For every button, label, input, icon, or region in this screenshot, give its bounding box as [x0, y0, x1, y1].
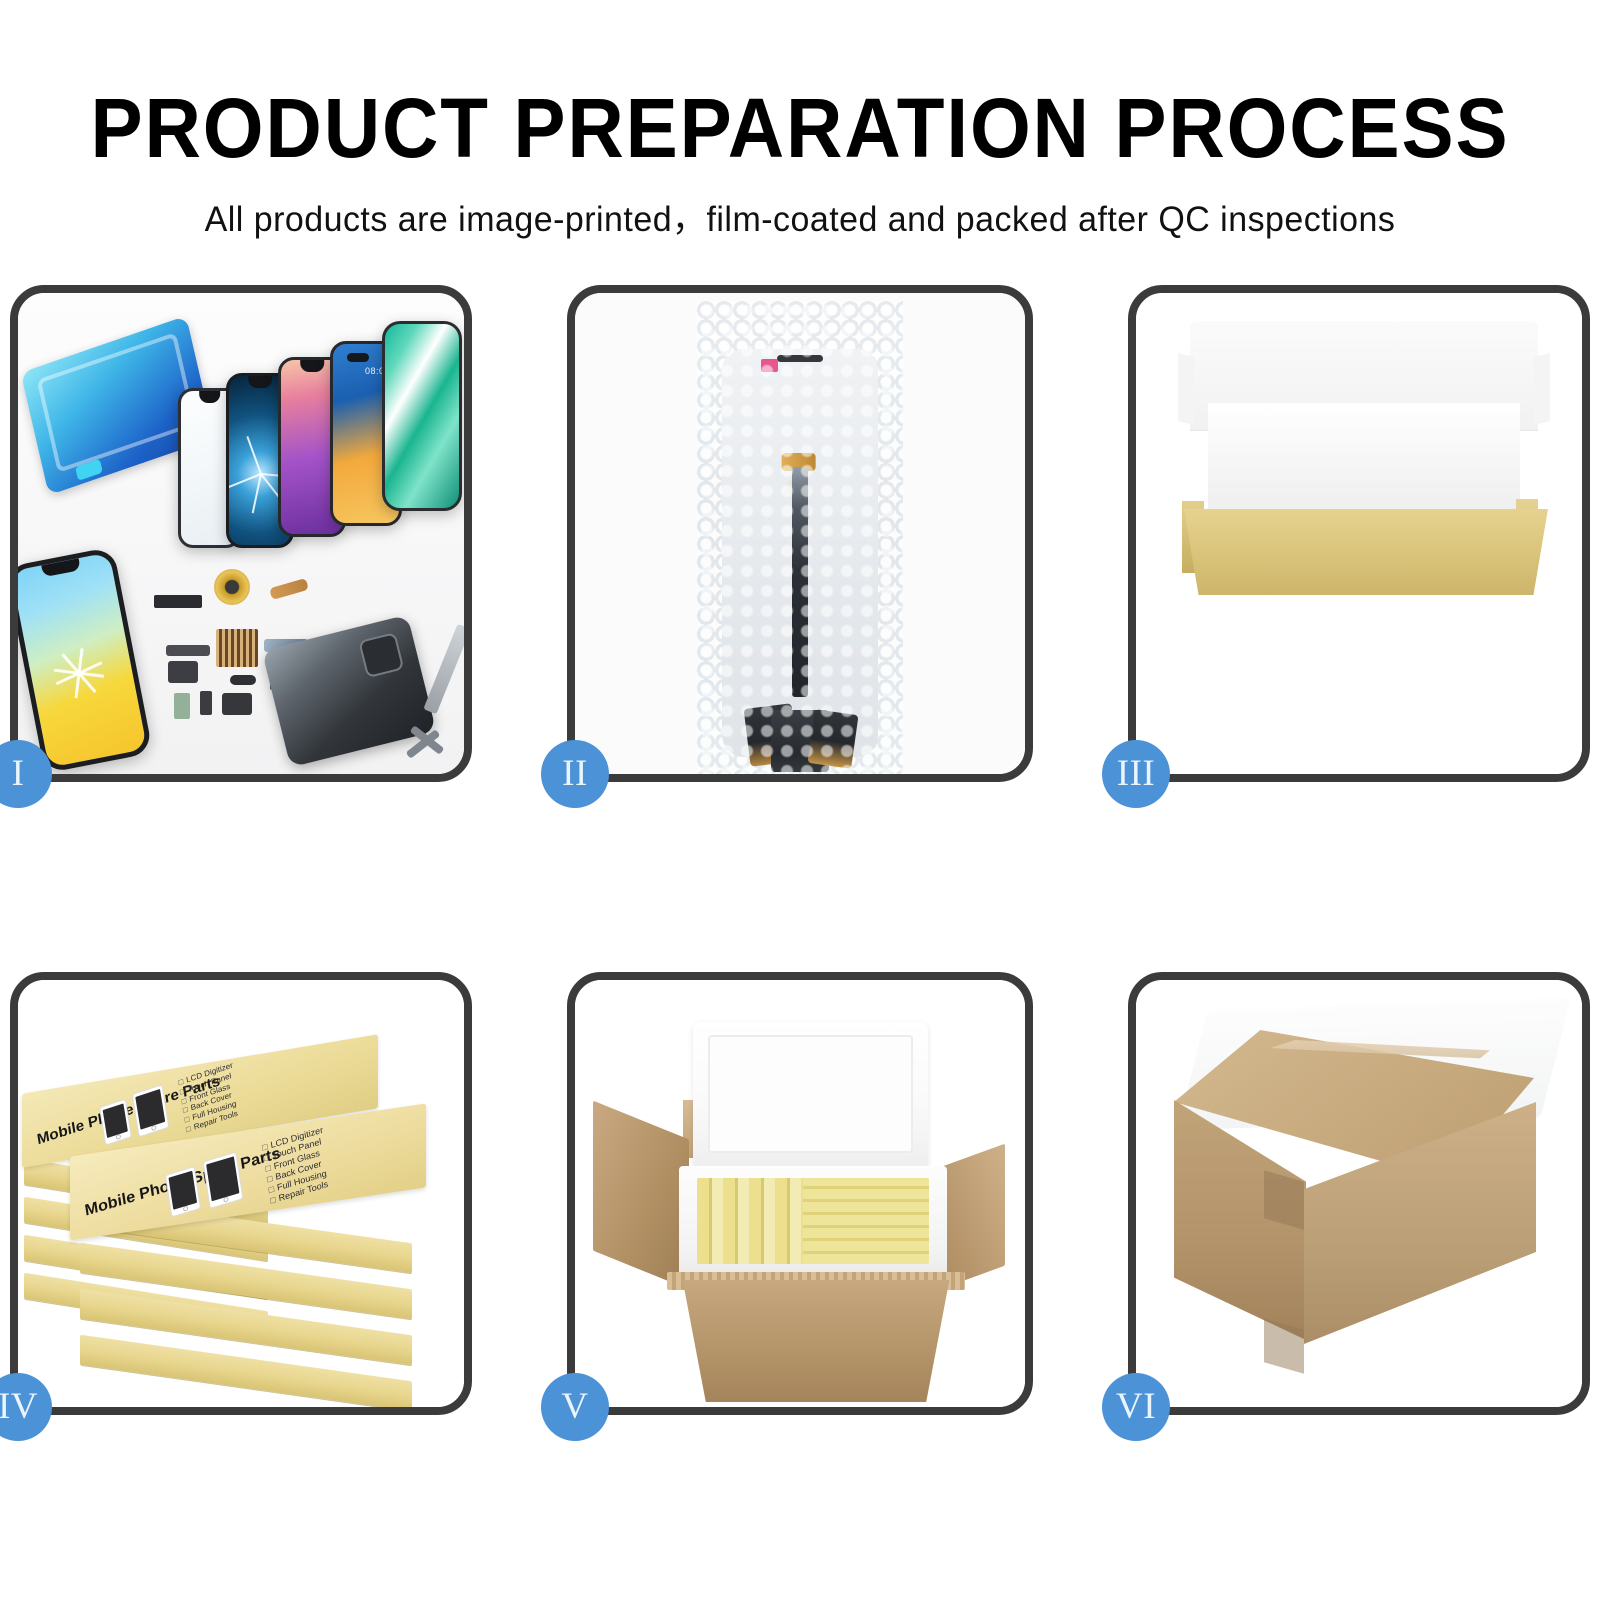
- step-badge-5: V: [541, 1373, 609, 1441]
- step-panel-1[interactable]: 08:08: [10, 285, 472, 782]
- sim-tray-icon: [174, 693, 190, 719]
- wireless-charging-coil-icon: [214, 569, 250, 605]
- step-image-6: [1136, 980, 1582, 1407]
- page-subtitle: All products are image-printed，film-coat…: [24, 202, 1576, 237]
- process-step-grid: 08:08: [10, 285, 1590, 1415]
- retail-box-phone-image: [132, 1084, 170, 1137]
- packed-retail-boxes-row2: [803, 1178, 929, 1264]
- connector-module-icon: [168, 661, 198, 683]
- loudspeaker-icon: [222, 693, 252, 715]
- ic-chip-icon: [216, 629, 258, 667]
- pink-qc-label: [761, 359, 778, 372]
- step-panel-5[interactable]: V: [567, 972, 1033, 1415]
- bottom-flex-right: [807, 709, 858, 769]
- box-front-panel: [1184, 509, 1548, 595]
- foam-lid-open: [693, 1022, 928, 1170]
- camera-module-icon: [200, 691, 212, 715]
- volume-button-icon: [230, 675, 256, 685]
- step-panel-4[interactable]: Mobile Phone Spare Parts LCD Digitizer T…: [10, 972, 472, 1415]
- step-image-5: [575, 980, 1025, 1407]
- step-panel-2[interactable]: II: [567, 285, 1033, 782]
- header: PRODUCT PREPARATION PROCESS All products…: [0, 0, 1600, 237]
- step-panel-6[interactable]: VI: [1128, 972, 1590, 1415]
- display-flex-cable: [792, 467, 808, 697]
- step-badge-6: VI: [1102, 1373, 1170, 1441]
- ribbon-cable-icon: [166, 645, 210, 656]
- taptic-engine-icon: [154, 595, 202, 608]
- retail-box-checklist: LCD Digitizer Touch Panel Front Glass Ba…: [261, 1125, 332, 1207]
- retail-box-checklist: LCD Digitizer Touch Panel Front Glass Ba…: [178, 1061, 241, 1135]
- page-title: PRODUCT PREPARATION PROCESS: [56, 86, 1544, 170]
- retail-box-phone-image: [99, 1099, 132, 1146]
- step-panel-3[interactable]: III: [1128, 285, 1590, 782]
- step-image-4: Mobile Phone Spare Parts LCD Digitizer T…: [18, 980, 464, 1407]
- step-badge-3: III: [1102, 740, 1170, 808]
- retail-box-phone-image: [203, 1152, 244, 1209]
- phone-green-display: [382, 321, 462, 511]
- step-image-1: 08:08: [18, 293, 464, 774]
- retail-box-phone-image: [165, 1166, 201, 1217]
- step-badge-2: II: [541, 740, 609, 808]
- foam-sheet: [1208, 403, 1520, 523]
- carton-front-panel: [671, 1280, 961, 1402]
- product-preparation-infographic: PRODUCT PREPARATION PROCESS All products…: [0, 0, 1600, 1600]
- step-image-2: [575, 293, 1025, 774]
- step-image-3: [1136, 293, 1582, 774]
- bubble-wrap-sleeve: [697, 301, 903, 774]
